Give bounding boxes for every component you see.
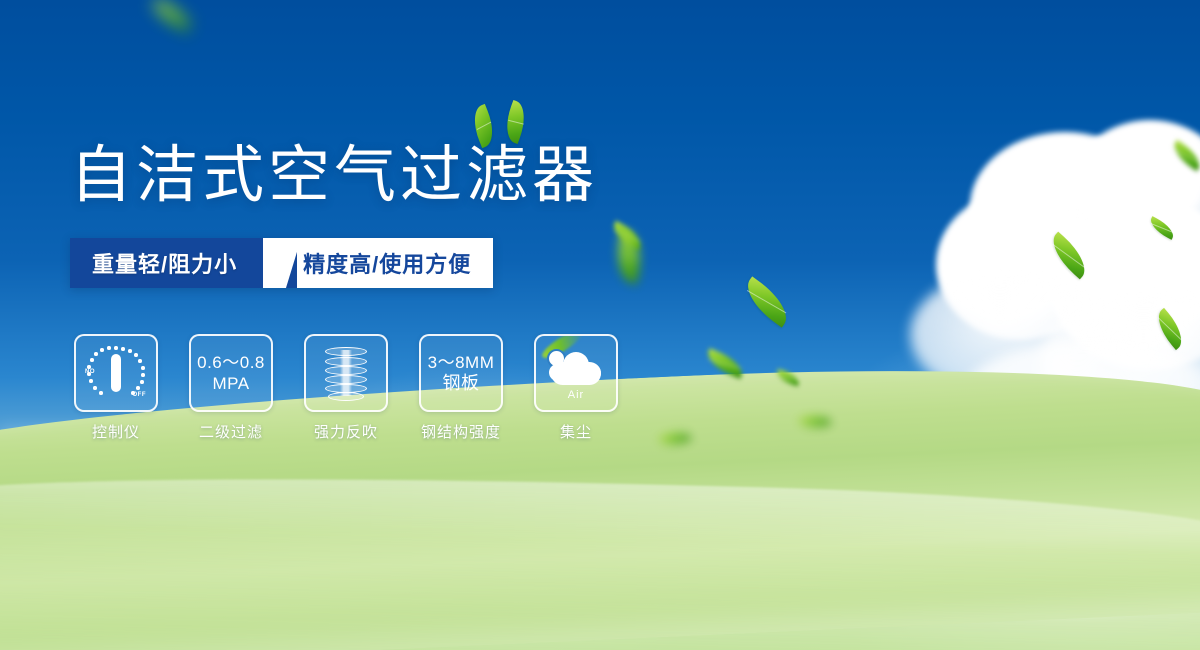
- subtitle-right-text: 精度高/使用方便: [297, 238, 493, 288]
- subtitle-bar: 重量轻/阻力小 精度高/使用方便: [70, 238, 493, 288]
- floating-leaf: [148, 0, 196, 32]
- floating-leaf: [1150, 308, 1190, 350]
- floating-leaf: [611, 230, 647, 284]
- pressure-text-icon: 0.6～0.8 MPA: [197, 352, 265, 394]
- floating-leaf: [1147, 216, 1177, 240]
- feature-caption: 控制仪: [92, 421, 140, 442]
- cloud-air-icon: [545, 347, 607, 391]
- steel-thickness: 3～8MM: [428, 352, 495, 373]
- subtitle-divider: [263, 238, 297, 288]
- feature-icon-box: 3～8MM 钢板: [419, 334, 503, 412]
- feature-icon-box: [304, 334, 388, 412]
- pressure-value: 0.6～0.8: [197, 352, 265, 373]
- steel-plate-text-icon: 3～8MM 钢板: [428, 352, 495, 394]
- feature-icon-box: Air: [534, 334, 618, 412]
- two-leaf-sprout-icon: [470, 100, 540, 152]
- feature-caption: 二级过滤: [199, 421, 263, 442]
- feature-caption: 集尘: [560, 421, 592, 442]
- feature-item-dust-collection[interactable]: Air 集尘: [532, 334, 620, 442]
- coil-stack-icon: [323, 347, 369, 399]
- title-block: 自洁式空气过滤器: [70, 140, 598, 212]
- pressure-unit: MPA: [197, 373, 265, 394]
- feature-list: NO OFF 控制仪 0.6～0.8 MPA 二级过滤: [72, 334, 620, 442]
- feature-caption: 钢结构强度: [421, 421, 501, 442]
- feature-caption: 强力反吹: [314, 421, 378, 442]
- feature-item-secondary-filter[interactable]: 0.6～0.8 MPA 二级过滤: [187, 334, 275, 442]
- feature-icon-box: NO OFF: [74, 334, 158, 412]
- feature-item-controller[interactable]: NO OFF 控制仪: [72, 334, 160, 442]
- product-banner: 自洁式空气过滤器 重量轻/阻力小 精度高/使用方便: [0, 0, 1200, 650]
- floating-leaf: [609, 221, 646, 251]
- steel-material: 钢板: [428, 373, 495, 394]
- feature-icon-box: 0.6～0.8 MPA: [189, 334, 273, 412]
- dial-label-on: NO: [85, 369, 95, 375]
- feature-item-steel-strength[interactable]: 3～8MM 钢板 钢结构强度: [417, 334, 505, 442]
- feature-item-backblow[interactable]: 强力反吹: [302, 334, 390, 442]
- dial-label-off: OFF: [133, 392, 147, 398]
- control-dial-icon: NO OFF: [87, 345, 145, 401]
- floating-leaf: [1169, 140, 1200, 171]
- subtitle-left-text: 重量轻/阻力小: [70, 238, 263, 288]
- floating-leaf: [738, 276, 796, 327]
- floating-leaf: [1044, 232, 1094, 280]
